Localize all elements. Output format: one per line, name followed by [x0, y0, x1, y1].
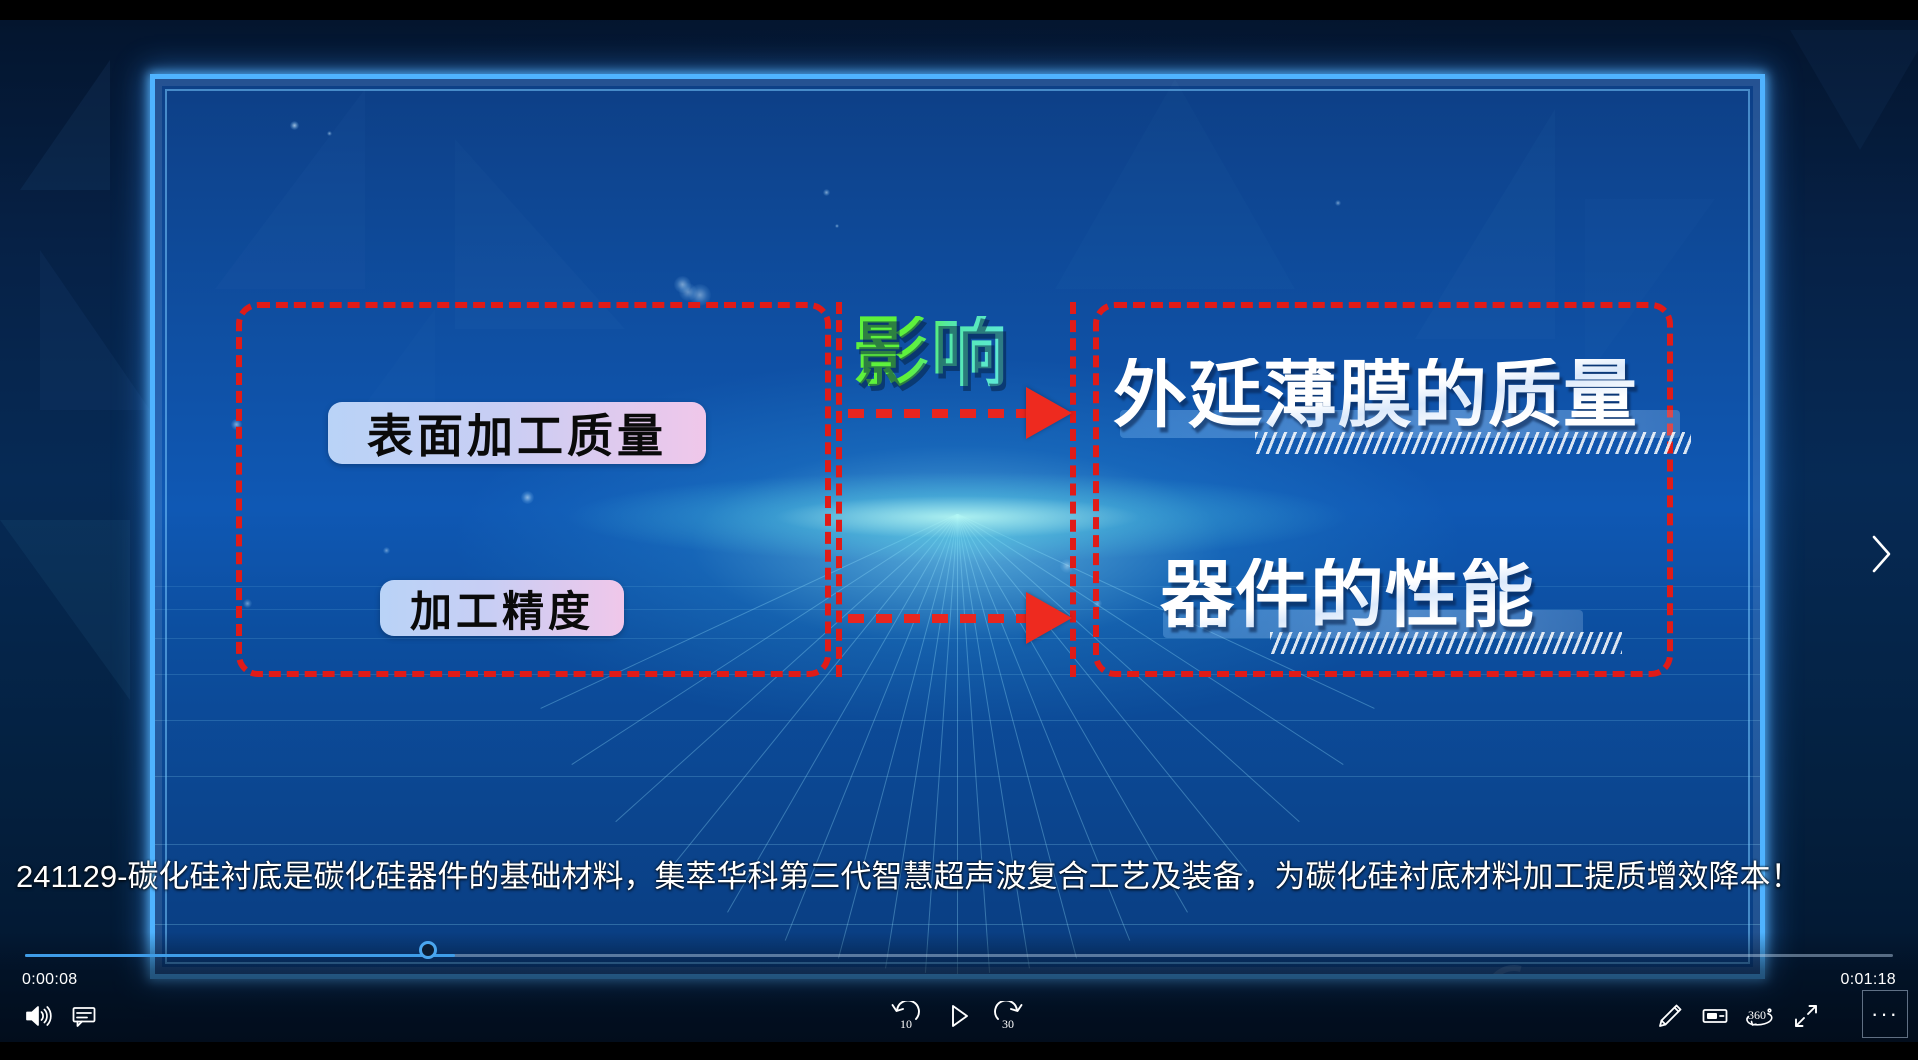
more-options-label: ··· — [1871, 1001, 1899, 1027]
rewind-10-icon[interactable]: 10 — [884, 994, 928, 1038]
pencil-icon[interactable] — [1648, 994, 1692, 1038]
background-polygon — [1790, 30, 1918, 150]
letterbox-bottom-bar — [0, 1042, 1918, 1060]
more-options-icon[interactable]: ··· — [1862, 990, 1908, 1038]
cause-badge-machining-accuracy[interactable]: 加工精度 — [380, 580, 624, 636]
video-surface[interactable]: 集萃华科 表面加工质量 加工精度 影响 外延薄膜的质量 器件的 — [0, 20, 1918, 1042]
video-player-fullscreen: 集萃华科 表面加工质量 加工精度 影响 外延薄膜的质量 器件的 — [0, 0, 1918, 1060]
background-polygon — [40, 250, 150, 410]
play-icon[interactable] — [937, 994, 981, 1038]
subtitles-icon[interactable] — [62, 994, 106, 1038]
seek-handle[interactable] — [419, 941, 437, 959]
volume-icon[interactable] — [16, 994, 60, 1038]
exit-fullscreen-icon[interactable] — [1784, 994, 1828, 1038]
player-controls: 0:00:08 0:01:18 — [0, 932, 1918, 1042]
effect-label-device-performance: 器件的性能 — [1160, 558, 1535, 632]
arrow-connector-top — [848, 408, 1072, 418]
total-time-label: 0:01:18 — [1841, 971, 1896, 989]
cause-badge-surface-quality[interactable]: 表面加工质量 — [328, 402, 706, 464]
subtitle-text: 241129-碳化硅衬底是碳化硅器件的基础材料，集萃华科第三代智慧超声波复合工艺… — [16, 856, 1902, 898]
arrow-connector-bottom — [848, 613, 1072, 623]
svg-text:360: 360 — [1748, 1008, 1766, 1022]
background-polygon — [0, 520, 130, 700]
control-button-row: 10 30 — [0, 994, 1918, 1042]
seek-bar[interactable] — [0, 948, 1918, 962]
letterbox-top-bar — [0, 0, 1918, 20]
background-polygon — [20, 60, 110, 190]
seek-track[interactable] — [25, 954, 1893, 957]
360-icon[interactable]: 360 — [1738, 994, 1782, 1038]
seek-progress-fill — [25, 954, 455, 957]
effect-label-epitaxial-film-quality: 外延薄膜的质量 — [1113, 358, 1638, 432]
screenshot-icon[interactable] — [1693, 994, 1737, 1038]
current-time-label: 0:00:08 — [22, 971, 77, 989]
forward-30-icon[interactable]: 30 — [986, 994, 1030, 1038]
influence-label: 影响 — [853, 316, 1009, 392]
chevron-right-icon[interactable] — [1856, 524, 1906, 584]
